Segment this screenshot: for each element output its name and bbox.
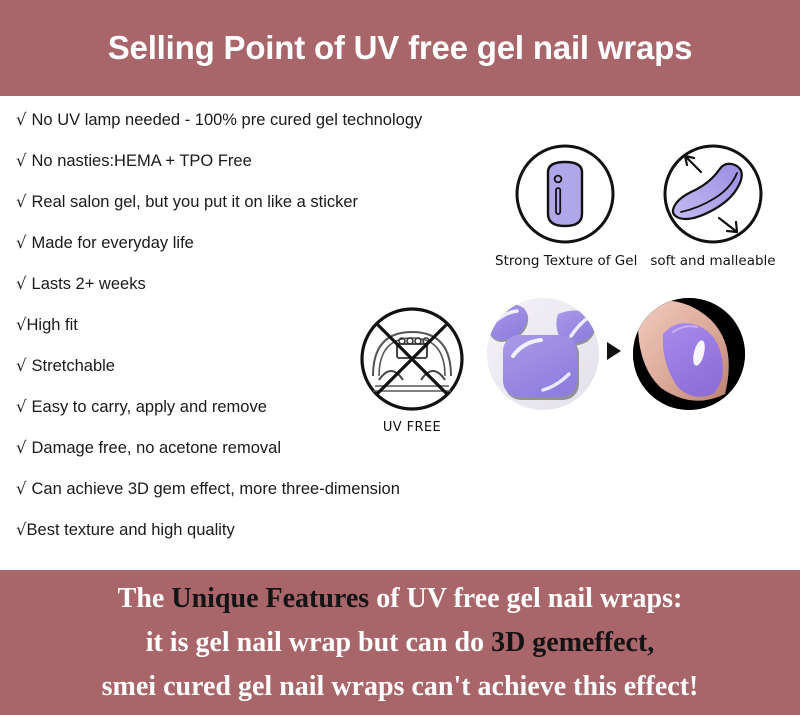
- footer-highlight-unique-features: Unique Features: [171, 583, 369, 614]
- content-area: √ No UV lamp needed - 100% pre cured gel…: [0, 96, 800, 570]
- list-item-label: Lasts 2+ weeks: [32, 275, 146, 294]
- list-item-label: Easy to carry, apply and remove: [32, 398, 267, 417]
- footer-line2-part-a: it is gel nail wrap but can do: [146, 627, 491, 658]
- gel-texture-icon-cell: Strong Texture of Gel: [495, 142, 635, 269]
- gel-wrap-sheet-photo: [487, 298, 599, 410]
- list-item-label: Real salon gel, but you put it on like a…: [32, 193, 359, 212]
- footer-line1-part-c: of UV free gel nail wraps:: [369, 583, 682, 614]
- footer-line-1: The Unique Features of UV free gel nail …: [118, 577, 683, 621]
- list-item: √ Real salon gel, but you put it on like…: [16, 192, 486, 233]
- list-item: √ No UV lamp needed - 100% pre cured gel…: [16, 110, 486, 151]
- check-mark-icon: √: [16, 233, 27, 252]
- list-item: √ Best texture and high quality: [16, 520, 486, 561]
- list-item: √ Damage free, no acetone removal: [16, 438, 486, 479]
- footer-banner: The Unique Features of UV free gel nail …: [0, 570, 800, 715]
- applied-nail-photo: [633, 298, 745, 410]
- list-item-label: Best texture and high quality: [27, 521, 235, 540]
- list-item-label: Stretchable: [32, 357, 115, 376]
- gel-property-icons: Strong Texture of Gel soft and malleable: [495, 142, 795, 282]
- check-mark-icon: √: [16, 151, 27, 170]
- footer-line-3: smei cured gel nail wraps can't achieve …: [102, 665, 699, 709]
- list-item-label: High fit: [27, 316, 78, 335]
- uv-lamp-crossed-out-icon: [357, 304, 467, 414]
- malleable-caption: soft and malleable: [643, 253, 783, 269]
- malleable-icon-cell: soft and malleable: [643, 142, 783, 269]
- check-mark-icon: √: [16, 192, 27, 211]
- footer-line1-part-a: The: [118, 583, 172, 614]
- gel-wrap-shape-icon: [513, 142, 617, 246]
- play-triangle-icon: [607, 342, 621, 360]
- list-item-label: No UV lamp needed - 100% pre cured gel t…: [32, 111, 423, 130]
- check-mark-icon: √: [16, 397, 27, 416]
- check-mark-icon: √: [16, 438, 27, 457]
- list-item: √ Can achieve 3D gem effect, more three-…: [16, 479, 486, 520]
- list-item: √ No nasties:HEMA + TPO Free: [16, 151, 486, 192]
- footer-line-2: it is gel nail wrap but can do 3D gemeff…: [146, 621, 655, 665]
- gel-texture-caption: Strong Texture of Gel: [495, 253, 635, 269]
- header-banner: Selling Point of UV free gel nail wraps: [0, 0, 800, 96]
- uv-free-badge: UV FREE: [352, 304, 472, 435]
- check-mark-icon: √: [16, 315, 27, 334]
- list-item-label: Can achieve 3D gem effect, more three-di…: [32, 480, 400, 499]
- list-item-label: Damage free, no acetone removal: [32, 439, 281, 458]
- uv-free-caption: UV FREE: [352, 420, 472, 435]
- list-item-label: No nasties:HEMA + TPO Free: [32, 152, 252, 171]
- list-item-label: Made for everyday life: [32, 234, 194, 253]
- footer-highlight-3d-gemeffect: 3D gemeffect,: [491, 627, 654, 658]
- bent-gel-shape-icon: [661, 142, 765, 246]
- check-mark-icon: √: [16, 479, 27, 498]
- list-item: √ Made for everyday life: [16, 233, 486, 274]
- page-title: Selling Point of UV free gel nail wraps: [108, 29, 692, 67]
- check-mark-icon: √: [16, 520, 27, 539]
- check-mark-icon: √: [16, 274, 27, 293]
- product-photo-row: [487, 298, 747, 418]
- check-mark-icon: √: [16, 110, 27, 129]
- check-mark-icon: √: [16, 356, 27, 375]
